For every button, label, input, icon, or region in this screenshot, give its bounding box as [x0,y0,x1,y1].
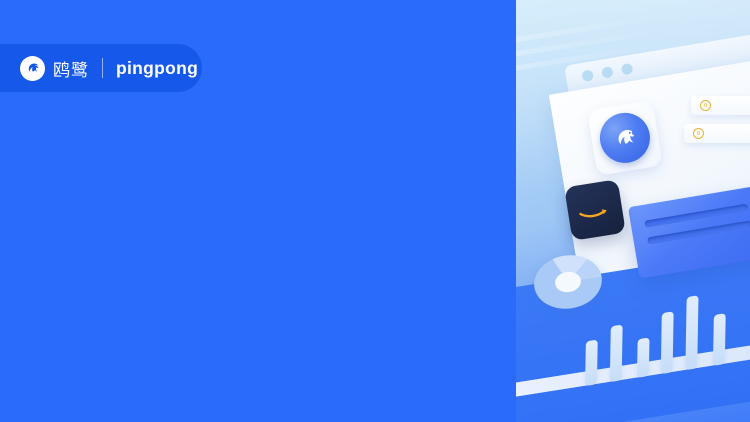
logo-chinese-name: 鸥鹭 [53,56,89,81]
list-item: ¤ [684,124,750,143]
coin-icon: ¤ [693,128,704,139]
logo-english-name: pingpong [116,58,198,79]
browser-dot-1 [581,69,594,82]
amazon-logo-card [564,179,626,241]
slide-root: ¤ ¤ [0,0,750,422]
coin-icon: ¤ [700,100,711,111]
amazon-smile-icon [577,199,613,220]
browser-dot-2 [601,66,614,79]
browser-dot-3 [621,62,634,75]
brand-tile [587,100,663,176]
egret-bird-icon [20,56,45,81]
list-item: ¤ [691,96,750,115]
brand-logo-pill: 鸥鹭 pingpong [0,44,202,92]
egret-bird-icon [596,109,654,167]
logo-divider [102,58,103,78]
